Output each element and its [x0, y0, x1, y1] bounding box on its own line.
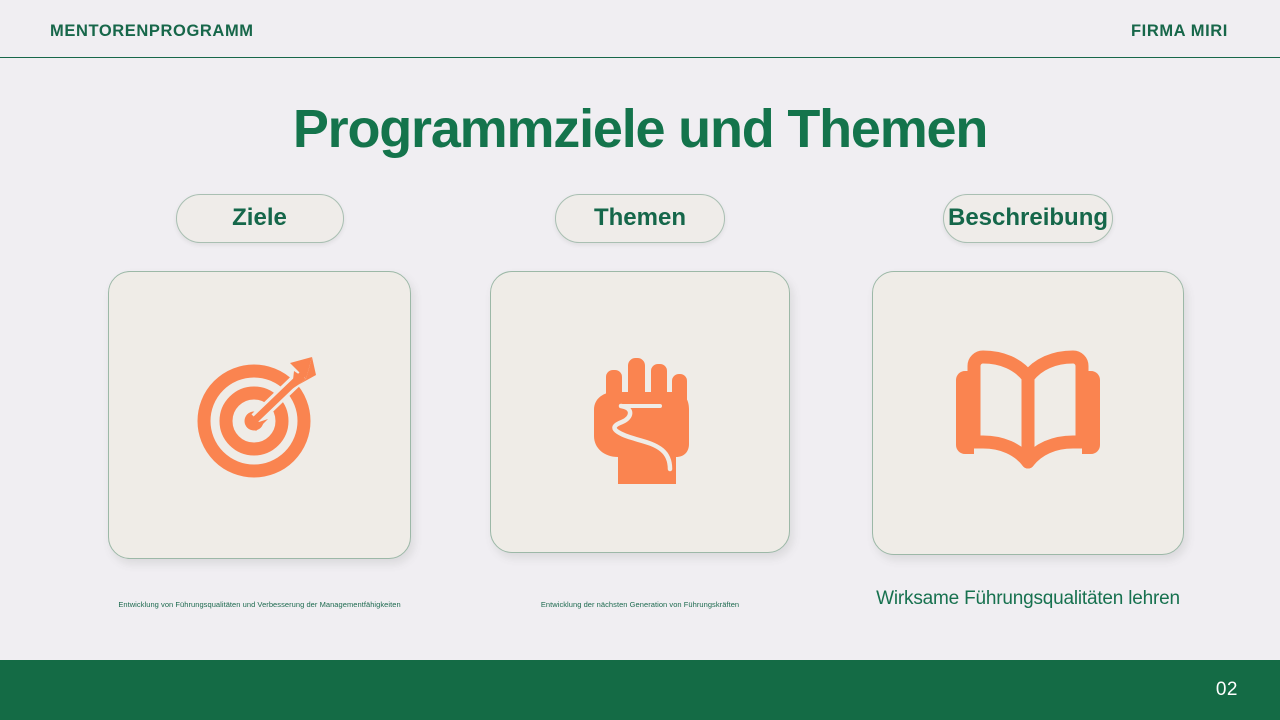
category-pill-label: Themen — [594, 204, 686, 232]
category-pill-label: Ziele — [232, 204, 287, 232]
column-caption-beschreibung: Wirksame Führungsqualitäten lehren — [876, 588, 1180, 610]
pill-wrap-themen: Themen — [490, 190, 790, 246]
pill-wrap-beschreibung: Beschreibung — [872, 190, 1184, 246]
header-program-label: MENTORENPROGRAMM — [50, 22, 254, 41]
page-title: Programmziele und Themen — [0, 98, 1280, 160]
category-pill-label: Beschreibung — [948, 204, 1108, 232]
icon-card-beschreibung[interactable] — [872, 271, 1184, 555]
header-company-label: FIRMA MIRI — [1131, 22, 1228, 41]
icon-card-themen[interactable] — [490, 271, 790, 553]
page-number: 02 — [1216, 679, 1238, 701]
column-ziele: Ziele — [108, 190, 411, 559]
open-book-icon — [950, 350, 1106, 476]
raised-fist-icon — [588, 336, 692, 488]
category-pill-themen[interactable]: Themen — [555, 194, 725, 243]
icon-card-ziele[interactable] — [108, 271, 411, 559]
category-pill-ziele[interactable]: Ziele — [176, 194, 344, 243]
column-beschreibung: Beschreibung Wirksame Führungs — [872, 190, 1184, 555]
slide-footer: 02 — [0, 660, 1280, 720]
target-icon — [194, 349, 326, 481]
column-caption-ziele: Entwicklung von Führungsqualitäten und V… — [118, 600, 400, 609]
slide: MENTORENPROGRAMM FIRMA MIRI Programmziel… — [0, 0, 1280, 720]
slide-header: MENTORENPROGRAMM FIRMA MIRI — [0, 0, 1280, 58]
pill-wrap-ziele: Ziele — [108, 190, 411, 246]
column-caption-themen: Entwicklung der nächsten Generation von … — [541, 600, 739, 609]
category-pill-beschreibung[interactable]: Beschreibung — [943, 194, 1113, 243]
column-themen: Themen — [490, 190, 790, 553]
